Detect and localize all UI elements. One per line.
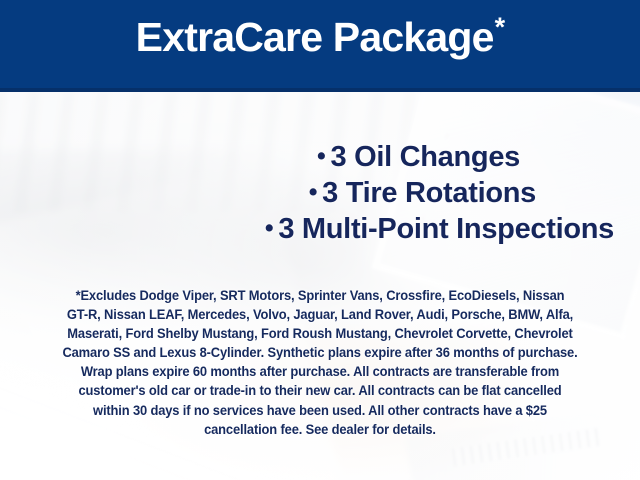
page-title-text: ExtraCare Package xyxy=(136,14,494,60)
benefit-item-oil-changes: •3 Oil Changes xyxy=(0,140,614,176)
page-title-asterisk: * xyxy=(495,12,505,42)
disclaimer-line: *Excludes Dodge Viper, SRT Motors, Sprin… xyxy=(32,286,607,305)
disclaimer-line: within 30 days if no services have been … xyxy=(32,401,607,420)
bullet-icon: • xyxy=(265,214,273,242)
benefit-item-multi-point-inspections: •3 Multi-Point Inspections xyxy=(0,212,614,248)
benefits-list: •3 Oil Changes •3 Tire Rotations •3 Mult… xyxy=(0,140,614,248)
benefit-item-label: 3 Oil Changes xyxy=(331,141,521,173)
benefit-item-tire-rotations: •3 Tire Rotations xyxy=(0,176,614,212)
disclaimer-line: cancellation fee. See dealer for details… xyxy=(32,420,607,439)
disclaimer-line: GT-R, Nissan LEAF, Mercedes, Volvo, Jagu… xyxy=(32,305,607,324)
disclaimer-line: customer's old car or trade-in to their … xyxy=(32,381,607,400)
disclaimer-line: Wrap plans expire 60 months after purcha… xyxy=(32,362,607,381)
page-title: ExtraCare Package* xyxy=(0,17,640,58)
bullet-icon: • xyxy=(309,178,317,206)
benefit-item-label: 3 Multi-Point Inspections xyxy=(278,213,614,245)
disclaimer-line: Maserati, Ford Shelby Mustang, Ford Rous… xyxy=(32,324,607,343)
disclaimer-line: Camaro SS and Lexus 8-Cylinder. Syntheti… xyxy=(32,343,607,362)
disclaimer-text: *Excludes Dodge Viper, SRT Motors, Sprin… xyxy=(32,286,607,439)
bullet-icon: • xyxy=(317,142,325,170)
header-banner: ExtraCare Package* xyxy=(0,0,640,92)
extracare-package-promo-card: ExtraCare Package* •3 Oil Changes •3 Tir… xyxy=(0,0,640,480)
benefit-item-label: 3 Tire Rotations xyxy=(322,177,536,209)
